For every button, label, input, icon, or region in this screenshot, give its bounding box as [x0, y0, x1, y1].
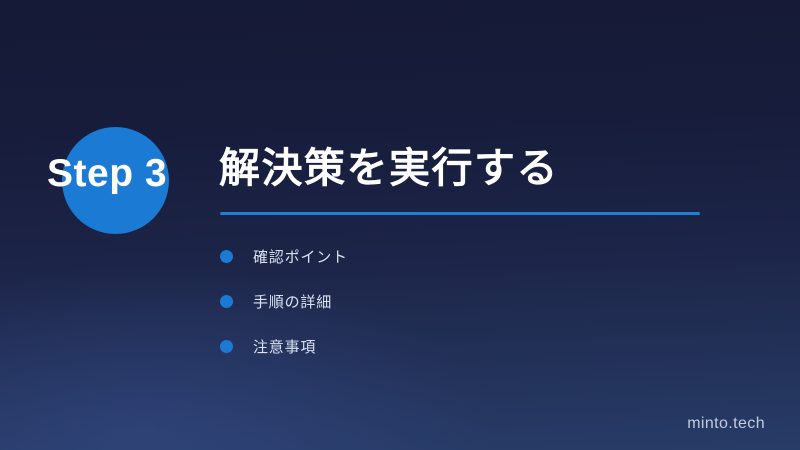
list-item: 注意事項	[220, 324, 348, 369]
bullet-dot-icon	[220, 340, 233, 353]
list-item-label: 注意事項	[253, 336, 316, 357]
step-badge-label: Step 3	[47, 154, 167, 193]
list-item-label: 手順の詳細	[253, 291, 332, 312]
slide-title: 解決策を実行する	[219, 145, 559, 192]
presentation-slide: Step 3 解決策を実行する 確認ポイント 手順の詳細 注意事項 minto.…	[0, 0, 800, 450]
list-item-label: 確認ポイント	[253, 246, 348, 267]
list-item: 確認ポイント	[220, 234, 348, 279]
footer-branding: minto.tech	[687, 415, 765, 433]
bullet-dot-icon	[220, 295, 233, 308]
bullet-dot-icon	[220, 250, 233, 263]
bullet-list: 確認ポイント 手順の詳細 注意事項	[220, 234, 348, 369]
title-divider	[220, 212, 700, 215]
list-item: 手順の詳細	[220, 279, 348, 324]
